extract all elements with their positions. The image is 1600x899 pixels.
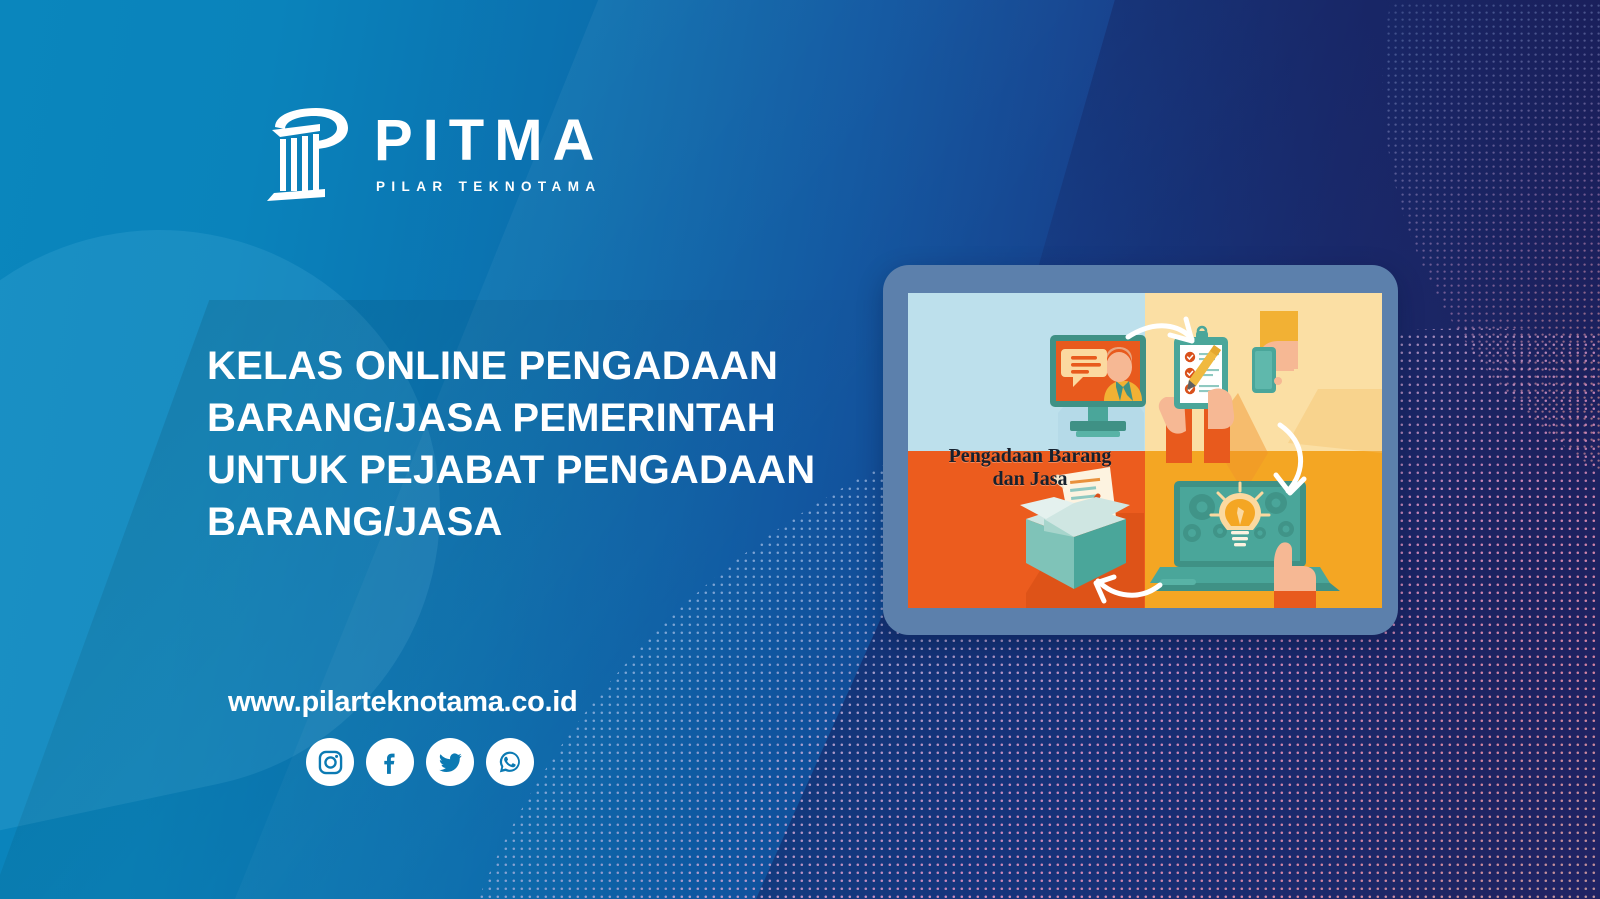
headline-line-1: KELAS ONLINE PENGADAAN xyxy=(207,340,847,392)
instagram-icon xyxy=(317,749,344,776)
logo-name: PITMA xyxy=(370,112,604,170)
illustration-caption-line-2: dan Jasa xyxy=(916,468,1144,491)
social-link-instagram[interactable] xyxy=(306,738,354,786)
illustration-caption: Pengadaan Barang dan Jasa xyxy=(916,445,1144,491)
social-link-facebook[interactable] xyxy=(366,738,414,786)
illustration-caption-line-1: Pengadaan Barang xyxy=(916,445,1144,468)
social-links xyxy=(306,738,534,786)
tablet-frame: Pengadaan Barang dan Jasa xyxy=(883,265,1398,635)
promo-banner: PITMA PILAR TEKNOTAMA KELAS ONLINE PENGA… xyxy=(0,0,1600,899)
logo-wordmark: PITMA PILAR TEKNOTAMA xyxy=(370,112,604,194)
logo-tagline: PILAR TEKNOTAMA xyxy=(370,179,604,194)
social-link-twitter[interactable] xyxy=(426,738,474,786)
brand-logo[interactable]: PITMA PILAR TEKNOTAMA xyxy=(258,104,604,202)
page-title: KELAS ONLINE PENGADAAN BARANG/JASA PEMER… xyxy=(207,340,847,548)
laptop-lightbulb-gears-icon xyxy=(1150,481,1340,608)
headline-line-4: BARANG/JASA xyxy=(207,496,847,548)
headline-line-2: BARANG/JASA PEMERINTAH xyxy=(207,392,847,444)
facebook-icon xyxy=(377,749,404,776)
illustration-canvas: Pengadaan Barang dan Jasa xyxy=(908,293,1382,608)
website-url[interactable]: www.pilarteknotama.co.id xyxy=(228,686,577,719)
hands-clipboard-checklist-icon xyxy=(1159,311,1298,463)
pillar-column-logo-icon xyxy=(258,104,350,202)
twitter-icon xyxy=(437,749,464,776)
whatsapp-icon xyxy=(496,748,524,776)
social-link-whatsapp[interactable] xyxy=(486,738,534,786)
headline-line-3: UNTUK PEJABAT PENGADAAN xyxy=(207,444,847,496)
